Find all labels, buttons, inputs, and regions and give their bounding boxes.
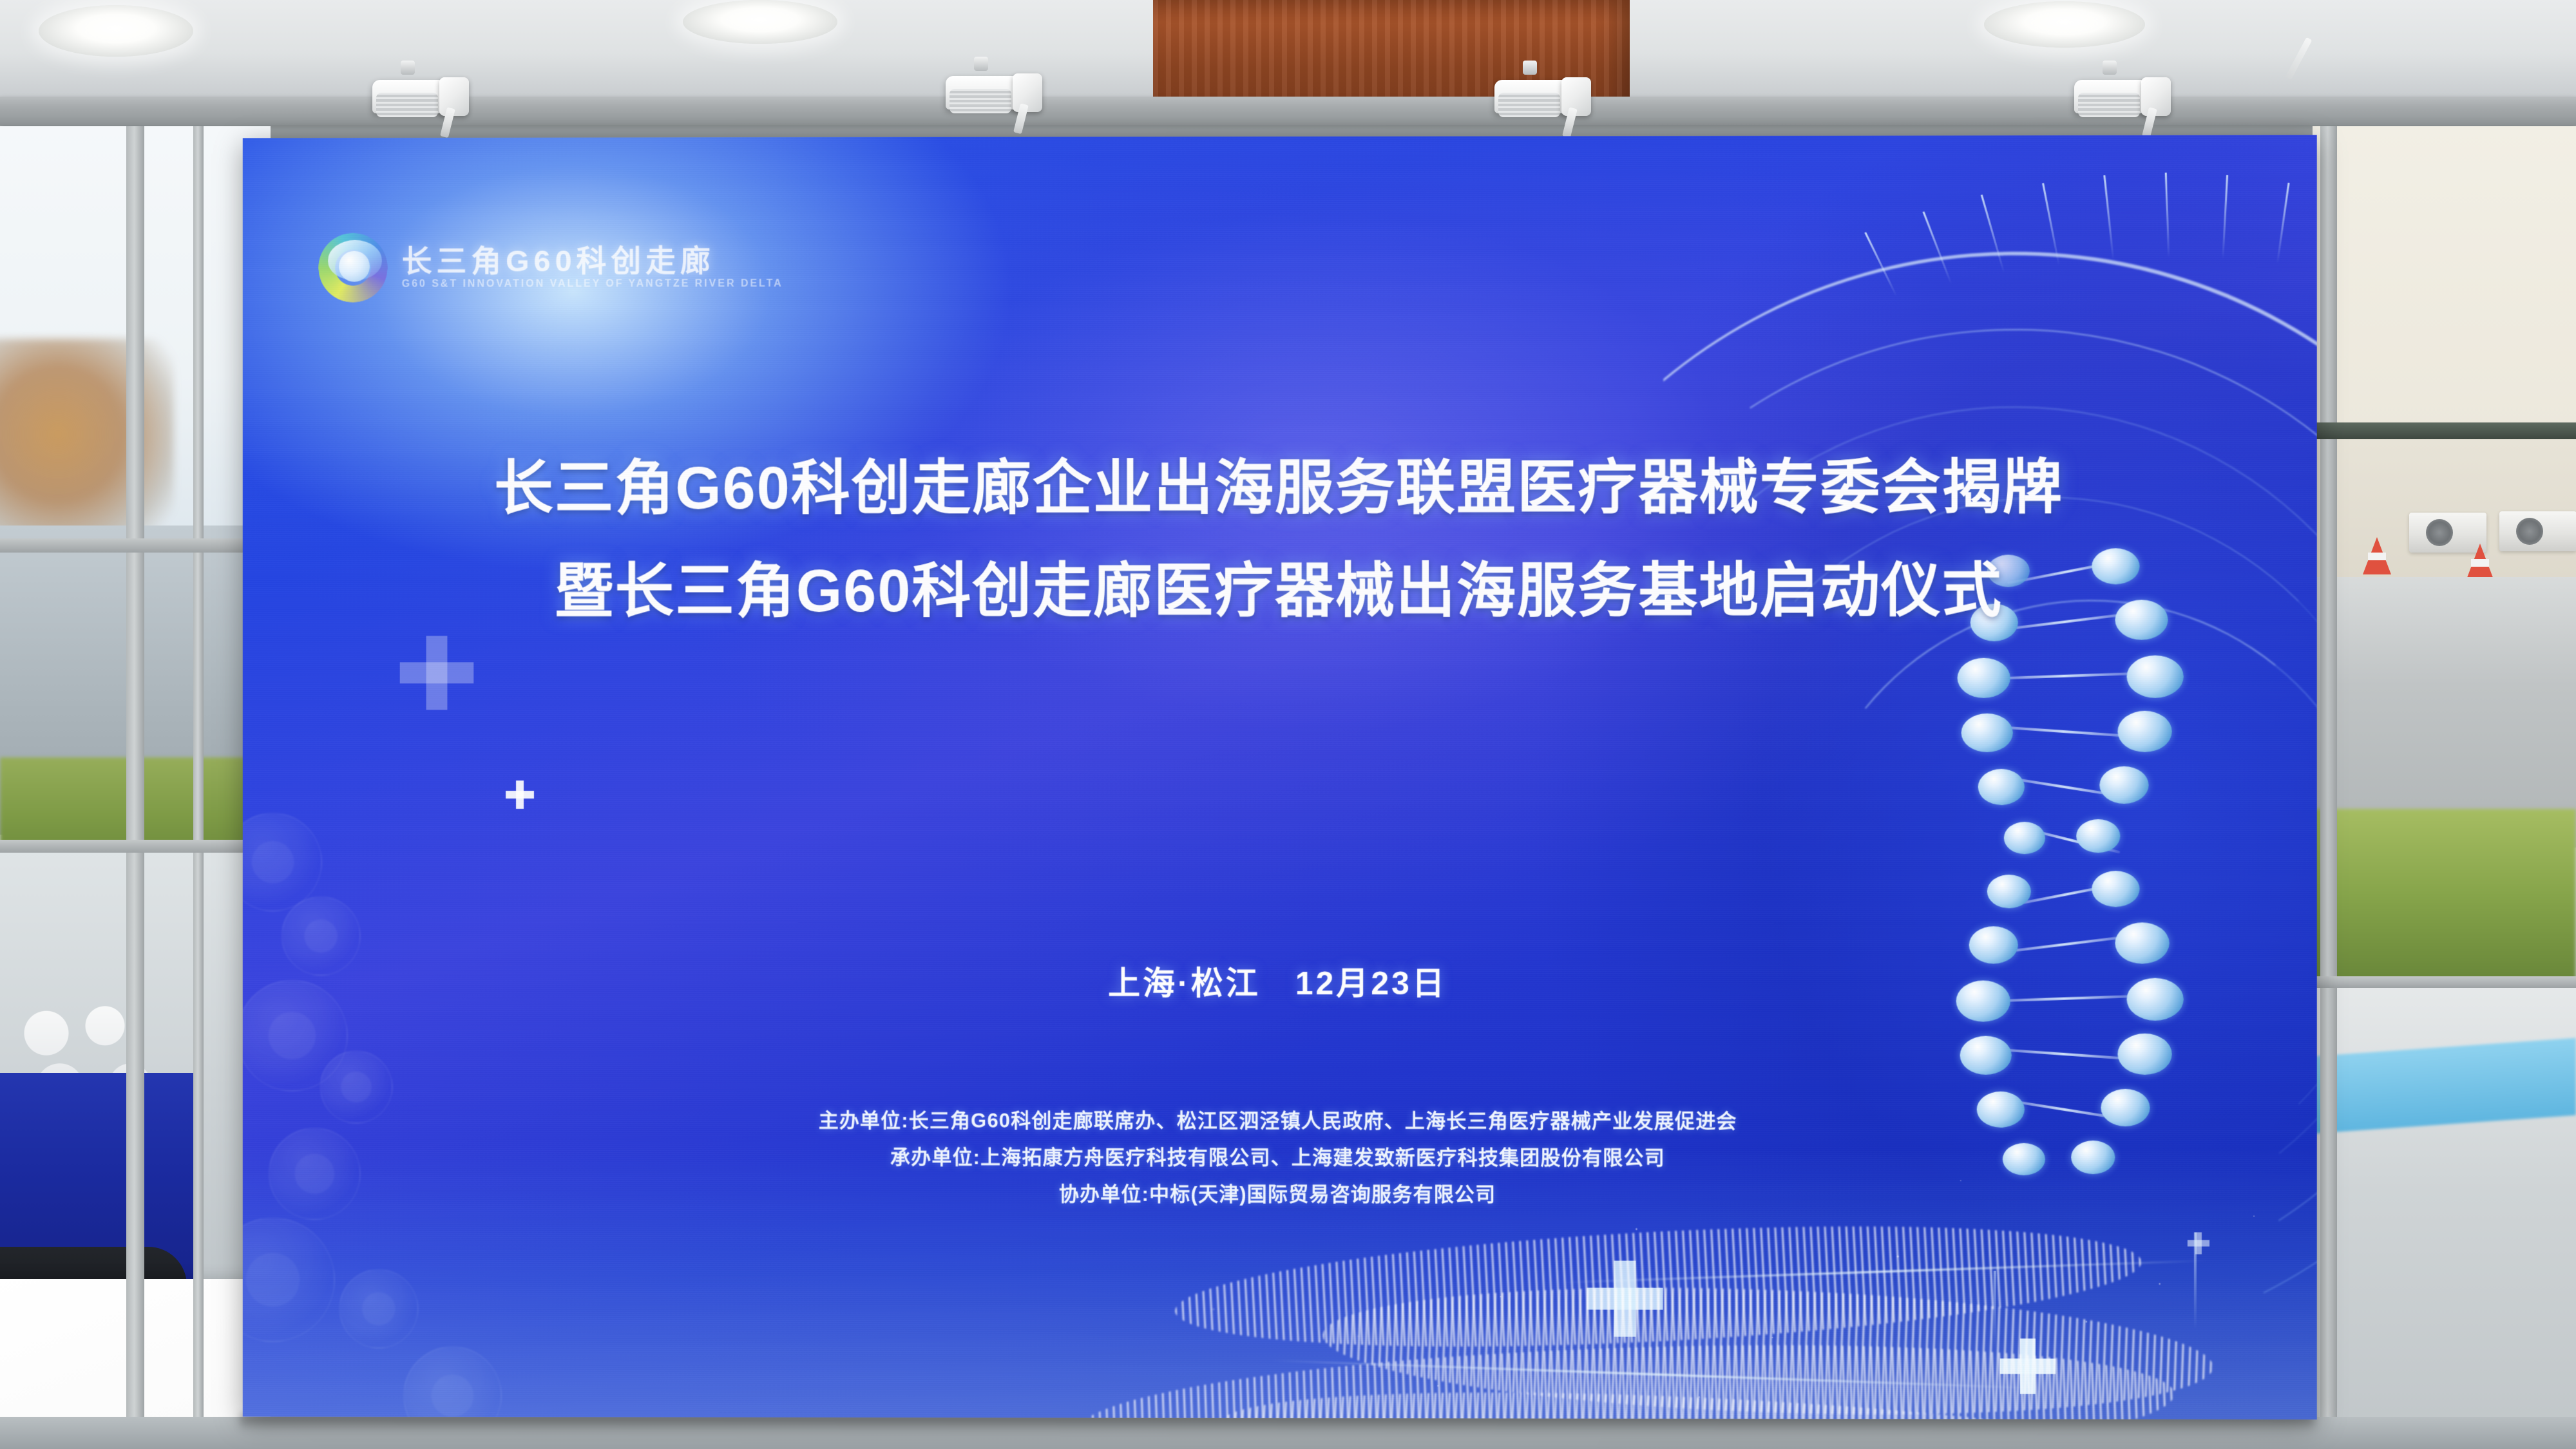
window-transom — [0, 840, 271, 853]
spotlight-fixture — [946, 67, 1042, 112]
roadway — [2313, 577, 2576, 848]
exterior-wall-lower — [2313, 429, 2576, 577]
window-mullion — [193, 126, 204, 1449]
dna-node — [1987, 875, 2031, 908]
spotlight-bracket — [2103, 61, 2117, 75]
medical-cross-icon — [506, 781, 534, 809]
light-ray — [2276, 183, 2290, 263]
organizer-line-undertaker: 承办单位:上海拓康方舟医疗科技有限公司、上海建发致新医疗科技集团股份有限公司 — [243, 1139, 2317, 1177]
dna-node — [2092, 871, 2139, 907]
logo-chinese-name: 长三角G60科创走廊 — [402, 245, 783, 276]
light-ray — [2222, 175, 2228, 259]
spotlight-fins — [2078, 93, 2140, 117]
spotlight-fixture — [1494, 71, 1591, 116]
light-ray — [2165, 173, 2170, 258]
organizer-block: 主办单位:长三角G60科创走廊联席办、松江区泗泾镇人民政府、上海长三角医疗器械产… — [243, 1102, 2317, 1214]
dna-node — [1960, 1036, 2012, 1075]
dna-node — [2126, 656, 2183, 698]
accent-bar — [2194, 1232, 2197, 1329]
dna-node — [1958, 658, 2010, 698]
dna-node — [2076, 819, 2120, 853]
air-conditioner-unit — [2499, 511, 2576, 551]
photo-scene: 长三角G60科创走廊 G60 S&T INNOVATION VALLEY OF … — [0, 0, 2576, 1449]
logo-bead — [339, 251, 370, 281]
spotlight-fins — [376, 93, 438, 117]
organizer-line-host: 主办单位:长三角G60科创走廊联席办、松江区泗泾镇人民政府、上海长三角医疗器械产… — [243, 1102, 2317, 1140]
tree — [0, 339, 174, 551]
ceiling-downlight — [39, 5, 193, 57]
spotlight-fixture — [372, 71, 469, 116]
spotlight-body — [1494, 80, 1572, 113]
spotlight-bracket — [1523, 61, 1537, 75]
organizer-line-coorganizer: 协办单位:中标(天津)国际贸易咨询服务有限公司 — [243, 1175, 2317, 1214]
dna-node — [1978, 769, 2025, 805]
banner-datetime: 上海·松江 12月23日 — [243, 957, 2317, 1004]
spotlight-body — [946, 76, 1023, 109]
g60-logo-mark-icon — [318, 233, 388, 303]
dna-node — [2117, 711, 2171, 752]
ceiling-downlight — [683, 0, 837, 44]
logo-text-block: 长三角G60科创走廊 G60 S&T INNOVATION VALLEY OF … — [402, 245, 783, 290]
spotlight-fixture — [2074, 71, 2171, 116]
g60-logo: 长三角G60科创走廊 G60 S&T INNOVATION VALLEY OF … — [318, 232, 783, 303]
banner-title-line-2: 暨长三角G60科创走廊医疗器械出海服务基地启动仪式 — [243, 561, 2317, 621]
spotlight-body — [2074, 80, 2151, 113]
light-ray — [2103, 175, 2114, 260]
event-backdrop-banner: 长三角G60科创走廊 G60 S&T INNOVATION VALLEY OF … — [243, 135, 2317, 1420]
dna-node — [2117, 1034, 2171, 1075]
spotlight-body — [372, 80, 450, 113]
window-transom — [0, 538, 271, 553]
window-transom — [2313, 976, 2576, 988]
dna-node — [2004, 822, 2045, 854]
hedge — [2313, 809, 2576, 1002]
banner-title-line-1: 长三角G60科创走廊企业出海服务联盟医疗器械专委会揭牌 — [243, 458, 2317, 518]
traffic-cone — [2466, 544, 2494, 581]
spotlight-fins — [949, 89, 1011, 113]
traffic-cone — [2363, 537, 2391, 574]
ac-fan — [2426, 519, 2453, 546]
window-mullion — [2320, 126, 2337, 1449]
dna-node — [1961, 714, 2013, 752]
right-window-view — [2313, 126, 2576, 1449]
window-mullion — [126, 126, 144, 1449]
logo-english-name: G60 S&T INNOVATION VALLEY OF YANGTZE RIV… — [402, 279, 783, 290]
accent-bar — [1994, 1271, 1996, 1348]
medical-cross-icon — [400, 636, 474, 710]
window-transom — [2313, 422, 2576, 439]
spotlight-bracket — [401, 61, 415, 75]
dna-helix-graphic — [1942, 548, 2214, 1180]
ac-fan — [2516, 518, 2543, 545]
molecule-circle-icon — [243, 813, 322, 912]
ceiling-downlight — [1984, 1, 2145, 48]
spotlight-bracket — [974, 57, 988, 71]
spotlight-fins — [1498, 93, 1560, 117]
dna-node — [2099, 766, 2148, 804]
left-window-view — [0, 126, 271, 1449]
